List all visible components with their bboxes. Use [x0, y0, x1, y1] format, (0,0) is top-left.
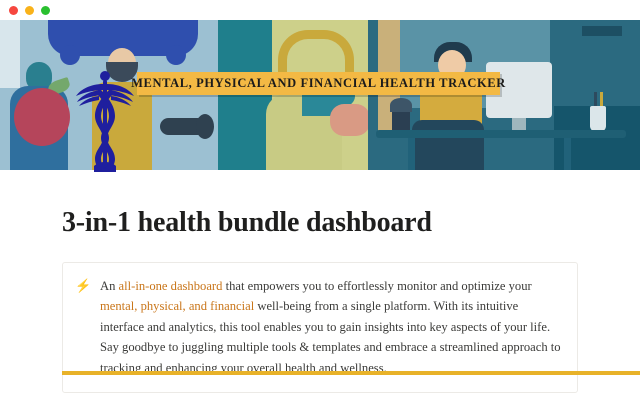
- page-content: 3-in-1 health bundle dashboard ⚡ An all-…: [0, 207, 640, 393]
- cup-shape: [590, 106, 606, 132]
- hero-panel-teal: [218, 20, 272, 170]
- callout-segment: that empowers you to effortlessly monito…: [222, 279, 531, 293]
- apple-shape: [14, 88, 70, 146]
- hero-panel-puzzle: [272, 20, 368, 170]
- lightning-bolt-icon: ⚡: [75, 276, 91, 378]
- window-titlebar: [0, 0, 640, 20]
- window-maximize-button[interactable]: [41, 6, 50, 15]
- window-close-button[interactable]: [9, 6, 18, 15]
- hero-title-banner: MENTAL, PHYSICAL AND FINANCIAL HEALTH TR…: [137, 72, 500, 95]
- hero-title-text: MENTAL, PHYSICAL AND FINANCIAL HEALTH TR…: [131, 76, 506, 91]
- dumbbell-shape: [160, 118, 206, 135]
- window-minimize-button[interactable]: [25, 6, 34, 15]
- shelf-shape: [582, 26, 622, 36]
- callout-segment: An: [100, 279, 119, 293]
- worker-legs-shape: [412, 120, 484, 170]
- caduceus-icon: [73, 62, 137, 172]
- callout-highlight: mental, physical, and financial: [100, 299, 254, 313]
- hero-panel-desk: [368, 20, 640, 170]
- desk-shape: [376, 130, 626, 138]
- desk-leg-shape: [564, 138, 571, 170]
- desk-leg-shape: [408, 138, 415, 170]
- page-title: 3-in-1 health bundle dashboard: [62, 207, 578, 239]
- callout-highlight: all-in-one dashboard: [119, 279, 223, 293]
- plant-shape: [392, 108, 410, 130]
- wall-shape: [0, 20, 20, 88]
- arm-shape: [330, 104, 370, 136]
- callout-text: An all-in-one dashboard that empowers yo…: [100, 276, 563, 378]
- gold-divider: [62, 371, 640, 375]
